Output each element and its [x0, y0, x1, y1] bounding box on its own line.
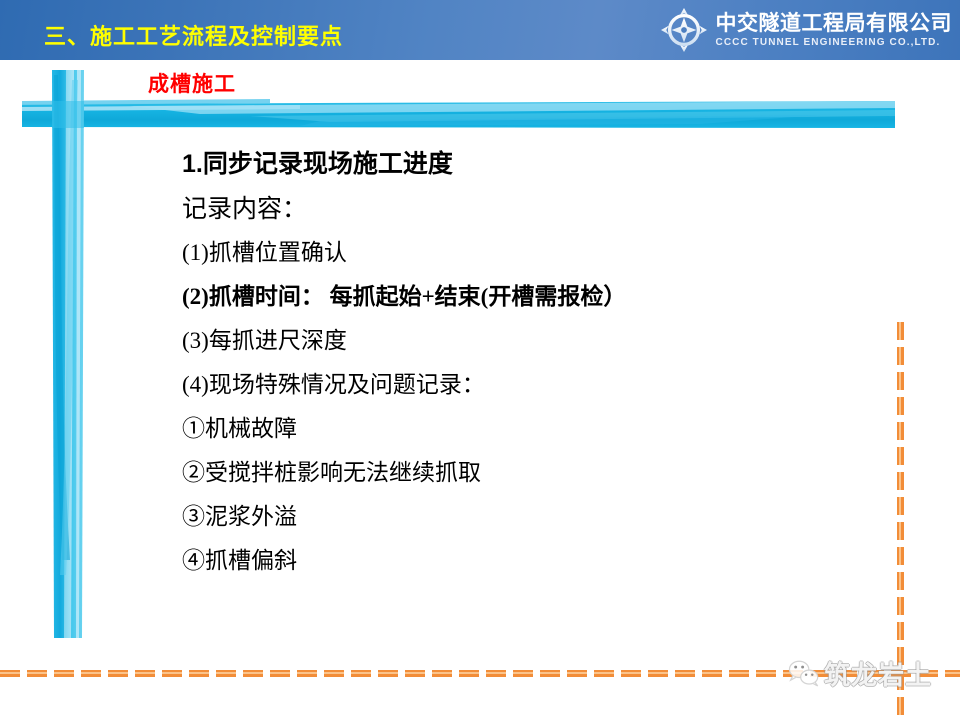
- company-logo: 中交隧道工程局有限公司 CCCC TUNNEL ENGINEERING CO.,…: [660, 6, 953, 54]
- content-item: (4)现场特殊情况及问题记录：: [182, 373, 822, 396]
- watermark-text: 筑龙岩土: [824, 655, 932, 692]
- content-item: (3)每抓进尺深度: [182, 329, 822, 352]
- heading-number: 1.: [182, 150, 203, 178]
- wechat-icon: [786, 659, 820, 689]
- content-heading: 1.同步记录现场施工进度: [182, 152, 822, 177]
- content-item: (2)抓槽时间： 每抓起始+结束(开槽需报检）: [182, 285, 822, 308]
- content-sub-label: 记录内容：: [182, 197, 822, 222]
- company-logo-text: 中交隧道工程局有限公司 CCCC TUNNEL ENGINEERING CO.,…: [716, 13, 953, 48]
- slide-canvas: 三、施工工艺流程及控制要点 中交隧道工程局有限公司 CCCC TUNNEL EN…: [0, 0, 960, 720]
- heading-text: 同步记录现场施工进度: [203, 151, 453, 178]
- company-name-en: CCCC TUNNEL ENGINEERING CO.,LTD.: [716, 38, 953, 48]
- page-title: 三、施工工艺流程及控制要点: [44, 19, 343, 51]
- content-sub-item: ③泥浆外溢: [182, 505, 822, 528]
- content-item: (1)抓槽位置确认: [182, 241, 822, 264]
- content-body: 1.同步记录现场施工进度 记录内容： (1)抓槽位置确认 (2)抓槽时间： 每抓…: [182, 152, 822, 593]
- content-sub-item: ①机械故障: [182, 417, 822, 440]
- compass-star-icon: [660, 7, 708, 53]
- watermark: 筑龙岩土: [786, 655, 932, 692]
- section-subtitle: 成槽施工: [148, 68, 236, 98]
- company-name-cn: 中交隧道工程局有限公司: [716, 13, 953, 34]
- content-sub-item: ④抓槽偏斜: [182, 549, 822, 572]
- content-sub-item: ②受搅拌桩影响无法继续抓取: [182, 461, 822, 484]
